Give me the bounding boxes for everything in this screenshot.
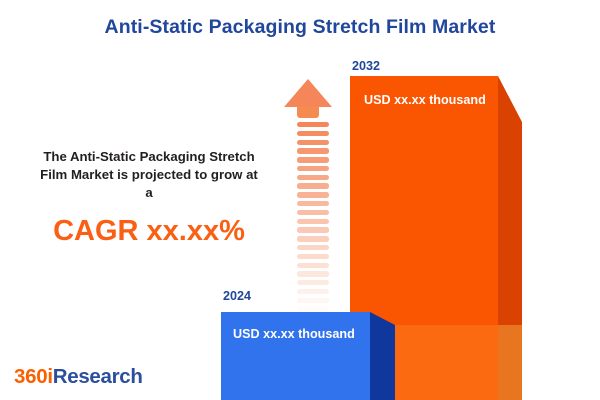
statement-line-1: The Anti-Static Packaging Stretch: [18, 148, 280, 166]
arrow-segment: [297, 236, 329, 241]
bar-2024-side-face: [370, 312, 395, 400]
cagr-value: CAGR xx.xx%: [18, 214, 280, 248]
bar-label-year-2024: 2024: [223, 289, 251, 303]
arrow-segment: [297, 192, 329, 197]
arrow-segment: [297, 201, 329, 206]
arrow-segment: [297, 219, 329, 224]
infographic-canvas: Anti-Static Packaging Stretch Film Marke…: [0, 0, 600, 400]
bar-value-2024: USD xx.xx thousand: [233, 327, 355, 341]
arrow-segment: [297, 148, 329, 153]
arrow-segment-stack: [297, 122, 329, 292]
arrow-segment: [297, 227, 329, 232]
logo-360: 360: [14, 365, 47, 388]
bar-label-year-2032: 2032: [352, 59, 380, 73]
arrow-segment: [297, 263, 329, 268]
arrow-segment: [297, 306, 329, 311]
statement-line-3: a: [18, 184, 280, 202]
arrow-segment: [297, 131, 329, 136]
arrow-segment: [297, 289, 329, 294]
arrow-segment: [297, 210, 329, 215]
growth-arrow-up-icon: [283, 78, 333, 293]
arrow-segment: [297, 140, 329, 145]
statement-line-2: Film Market is projected to grow at: [18, 166, 280, 184]
arrow-segment: [297, 254, 329, 259]
page-title: Anti-Static Packaging Stretch Film Marke…: [0, 16, 600, 39]
bar-value-2032: USD xx.xx thousand: [364, 93, 486, 107]
arrow-segment: [297, 183, 329, 188]
arrow-segment: [297, 166, 329, 171]
arrow-segment: [297, 157, 329, 162]
logo-research: Research: [53, 365, 143, 388]
arrow-segment: [297, 298, 329, 303]
bar-overlap-front: [395, 325, 498, 400]
arrow-segment: [297, 175, 329, 180]
arrow-segment: [297, 271, 329, 276]
arrow-segment: [297, 122, 329, 127]
arrow-segment: [297, 280, 329, 285]
company-logo: 360iResearch: [14, 365, 143, 389]
arrow-segment: [297, 245, 329, 250]
bar-overlap-side: [498, 325, 522, 400]
growth-statement: The Anti-Static Packaging Stretch Film M…: [18, 148, 280, 248]
arrow-neck: [297, 106, 319, 118]
bar-2024: [221, 312, 370, 400]
